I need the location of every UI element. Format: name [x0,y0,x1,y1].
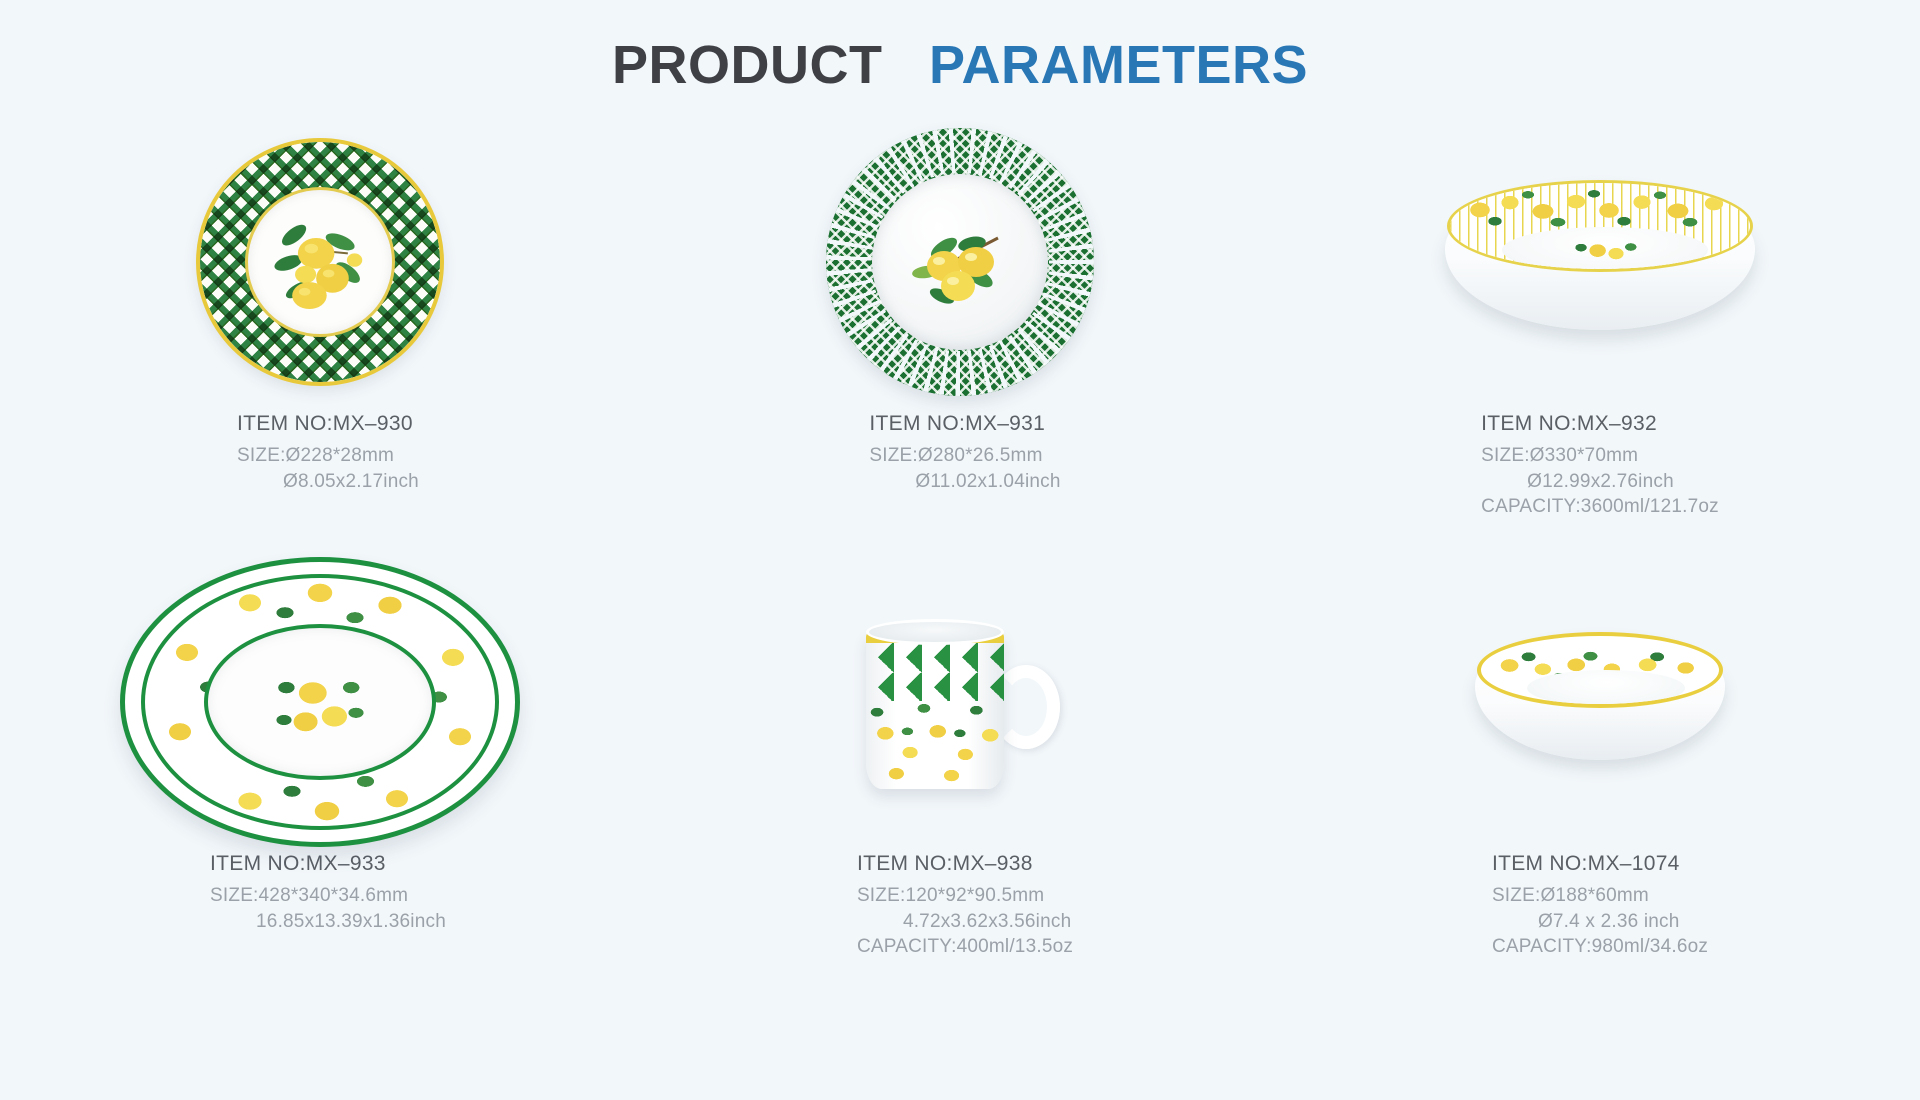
product-card-mx-932[interactable]: ITEM NO:MX–932 SIZE:Ø330*70mm Ø12.99x2.7… [1280,118,1920,558]
product-card-mx-1074[interactable]: ITEM NO:MX–1074 SIZE:Ø188*60mm Ø7.4 x 2.… [1280,558,1920,998]
spec-size-mm: SIZE:Ø280*26.5mm [869,443,1060,469]
product-caption-mx-930: ITEM NO:MX–930 SIZE:Ø228*28mm Ø8.05x2.17… [237,412,419,494]
item-number: ITEM NO:MX–931 [869,412,1060,436]
lattice-rim-plate-icon [196,138,444,386]
spec-size-mm: SIZE:120*92*90.5mm [857,883,1073,909]
product-image-mx-1074 [1280,558,1920,846]
spec-size-mm: SIZE:Ø228*28mm [237,443,419,469]
product-caption-mx-938: ITEM NO:MX–938 SIZE:120*92*90.5mm 4.72x3… [857,852,1073,960]
item-number: ITEM NO:MX–938 [857,852,1073,876]
product-card-mx-933[interactable]: ITEM NO:MX–933 SIZE:428*340*34.6mm 16.85… [0,558,640,998]
spec-size-mm: SIZE:Ø188*60mm [1492,883,1708,909]
bowl-rim [1447,180,1753,272]
spec-size-mm: SIZE:428*340*34.6mm [210,883,446,909]
product-card-mx-930[interactable]: ITEM NO:MX–930 SIZE:Ø228*28mm Ø8.05x2.17… [0,118,640,558]
product-card-mx-938[interactable]: ITEM NO:MX–938 SIZE:120*92*90.5mm 4.72x3… [640,558,1280,998]
large-salad-bowl-icon [1445,180,1755,345]
plate-well [245,187,395,337]
product-image-mx-932 [1280,118,1920,406]
lemon-mug-icon [860,607,1060,797]
lemon-branch-motif [248,190,392,334]
product-caption-mx-1074: ITEM NO:MX–1074 SIZE:Ø188*60mm Ø7.4 x 2.… [1492,852,1708,960]
spec-size-inch: Ø11.02x1.04inch [869,469,1060,495]
item-number: ITEM NO:MX–930 [237,412,419,436]
platter-outer-rim [120,557,520,847]
product-card-mx-931[interactable]: ITEM NO:MX–931 SIZE:Ø280*26.5mm Ø11.02x1… [640,118,1280,558]
product-caption-mx-932: ITEM NO:MX–932 SIZE:Ø330*70mm Ø12.99x2.7… [1481,412,1719,520]
plate-well [872,174,1048,350]
lemon-pattern [1450,183,1750,233]
product-image-mx-931 [640,118,1280,406]
spec-size-mm: SIZE:Ø330*70mm [1481,443,1719,469]
spec-capacity: CAPACITY:3600ml/121.7oz [1481,494,1719,520]
product-image-mx-930 [0,118,640,406]
item-number: ITEM NO:MX–933 [210,852,446,876]
spec-size-inch: 16.85x13.39x1.36inch [210,909,446,935]
spec-size-inch: Ø8.05x2.17inch [237,469,419,495]
mug-body [866,631,1004,789]
floor-lemon-motif [1559,235,1651,265]
small-lemon-bowl-icon [1475,632,1725,772]
platter-well [204,624,436,780]
page-title-parameters: PARAMETERS [929,35,1308,95]
product-grid: ITEM NO:MX–930 SIZE:Ø228*28mm Ø8.05x2.17… [0,118,1920,998]
product-image-mx-938 [640,558,1280,846]
lemon-pattern [866,693,1004,789]
mug-mouth [866,619,1004,645]
spec-capacity: CAPACITY:980ml/34.6oz [1492,934,1708,960]
item-number: ITEM NO:MX–932 [1481,412,1719,436]
lemon-branch-motif [872,174,1048,350]
item-number: ITEM NO:MX–1074 [1492,852,1708,876]
page-title: PRODUCT PARAMETERS [0,0,1920,95]
page-title-product: PRODUCT [612,35,883,95]
bowl-floor [1527,670,1685,706]
product-caption-mx-933: ITEM NO:MX–933 SIZE:428*340*34.6mm 16.85… [210,852,446,934]
basketweave-rim-plate-icon [826,128,1094,396]
spec-size-inch: Ø7.4 x 2.36 inch [1492,909,1708,935]
oval-platter-icon [120,557,520,847]
spec-size-inch: Ø12.99x2.76inch [1481,469,1719,495]
bowl-rim [1477,632,1723,708]
spec-capacity: CAPACITY:400ml/13.5oz [857,934,1073,960]
product-caption-mx-931: ITEM NO:MX–931 SIZE:Ø280*26.5mm Ø11.02x1… [869,412,1060,494]
bowl-floor [1502,227,1708,272]
center-lemon-motif [260,657,380,747]
spec-size-inch: 4.72x3.62x3.56inch [857,909,1073,935]
product-image-mx-933 [0,558,640,846]
